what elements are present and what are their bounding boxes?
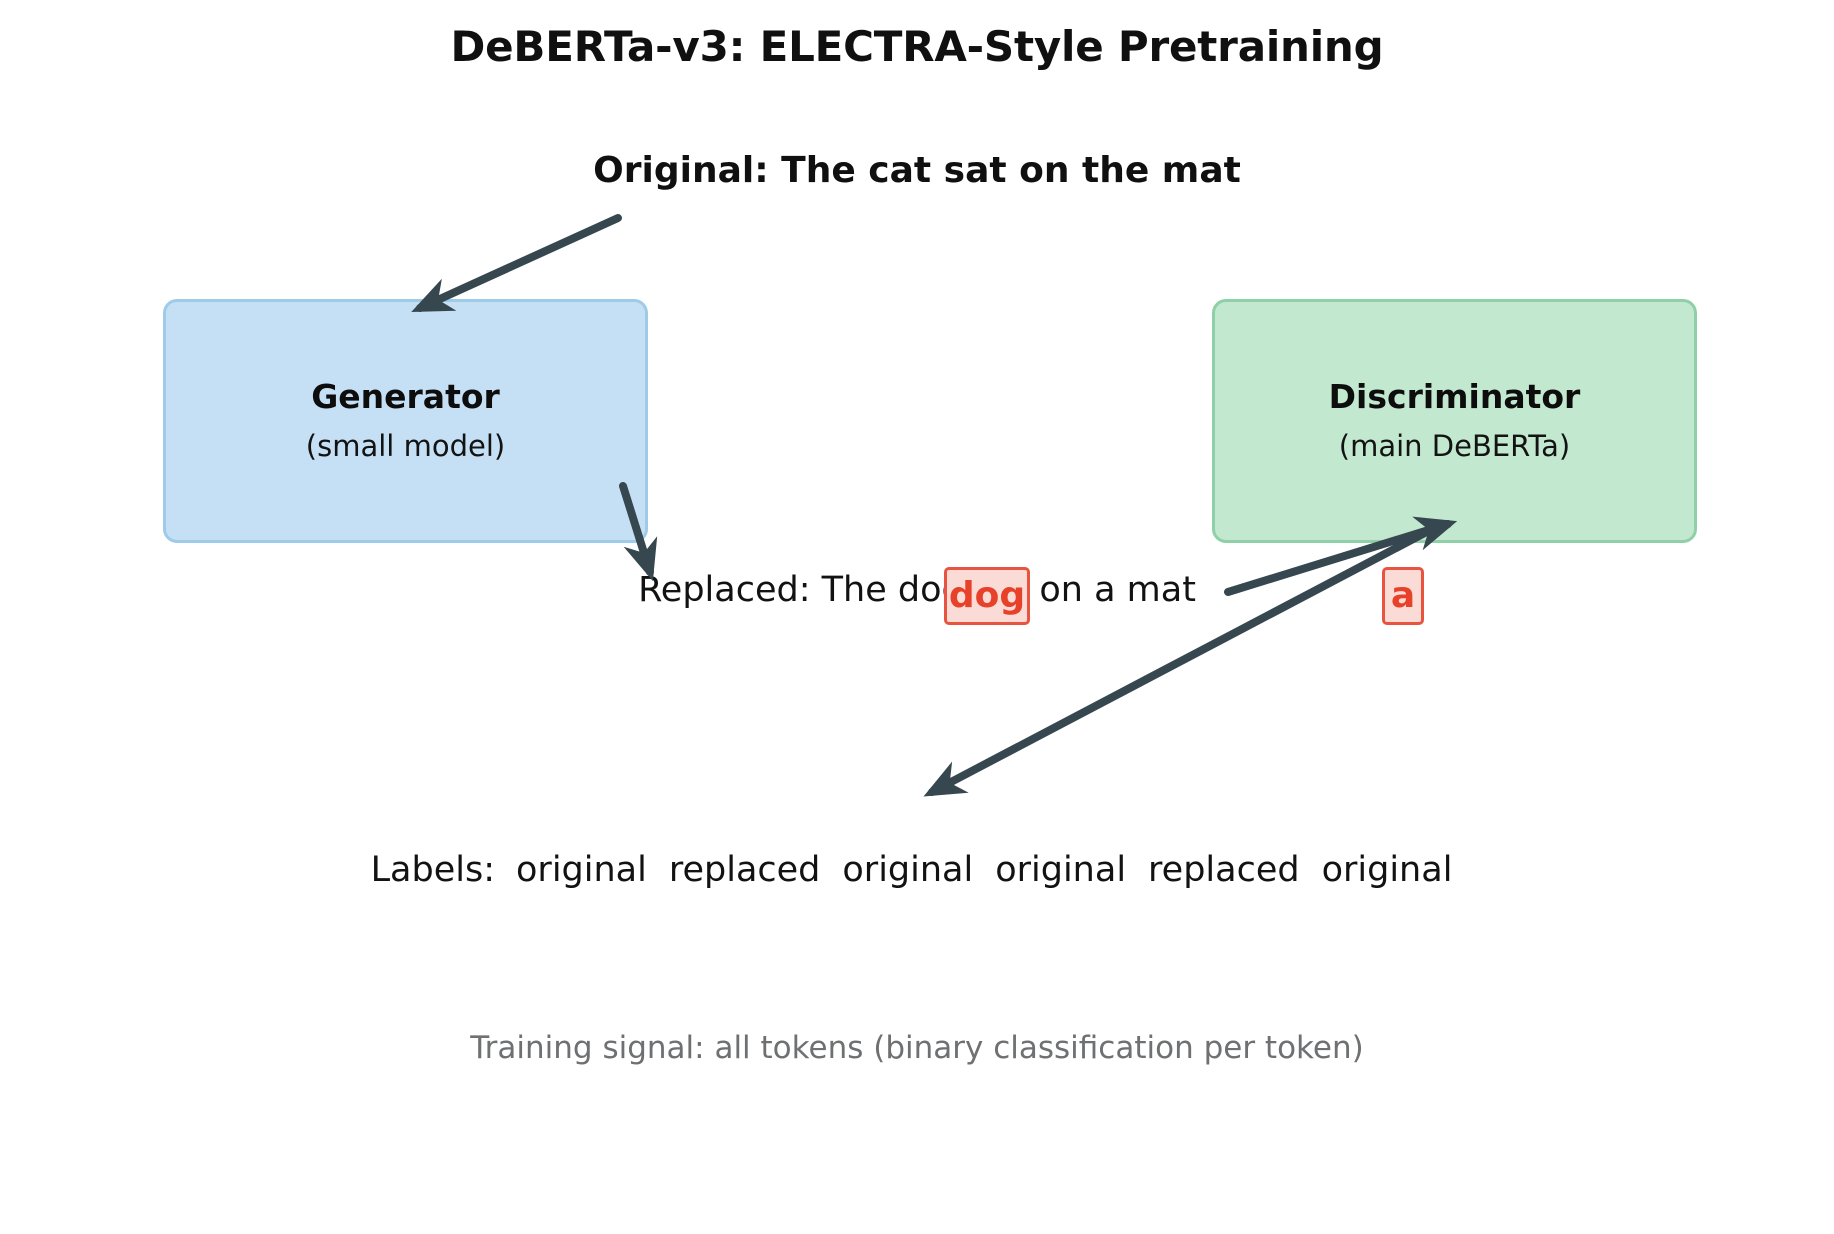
discriminator-subtitle: (main DeBERTa) — [1339, 431, 1570, 463]
page-title: DeBERTa-v3: ELECTRA-Style Pretraining — [0, 22, 1834, 71]
generator-subtitle: (small model) — [306, 431, 505, 463]
label-token-1: original — [516, 850, 647, 890]
training-signal-note: Training signal: all tokens (binary clas… — [0, 1030, 1834, 1066]
label-token-6: original — [1322, 850, 1453, 890]
replaced-sentence-text: Replaced: The dog sat on a mat — [638, 570, 1196, 610]
label-token-3: original — [842, 850, 973, 890]
generator-title: Generator — [311, 379, 500, 415]
replaced-token-chip-a: a — [1382, 567, 1424, 625]
replaced-sentence: Replaced: The dog sat on a mat — [0, 570, 1834, 610]
arrow-discriminator-to-labels — [932, 526, 1438, 792]
replaced-token-chip-dog: dog — [944, 567, 1030, 625]
labels-prefix: Labels: — [371, 850, 495, 890]
label-token-4: original — [995, 850, 1126, 890]
label-token-2: replaced — [669, 850, 821, 890]
original-sentence: Original: The cat sat on the mat — [0, 150, 1834, 191]
labels-row: Labels:originalreplacedoriginaloriginalr… — [0, 850, 1834, 890]
generator-box[interactable]: Generator (small model) — [163, 299, 648, 543]
discriminator-box[interactable]: Discriminator (main DeBERTa) — [1212, 299, 1697, 543]
diagram-canvas: DeBERTa-v3: ELECTRA-Style Pretraining Or… — [0, 0, 1834, 1234]
label-token-5: replaced — [1148, 850, 1300, 890]
arrow-original-to-generator — [420, 218, 618, 308]
discriminator-title: Discriminator — [1329, 379, 1581, 415]
